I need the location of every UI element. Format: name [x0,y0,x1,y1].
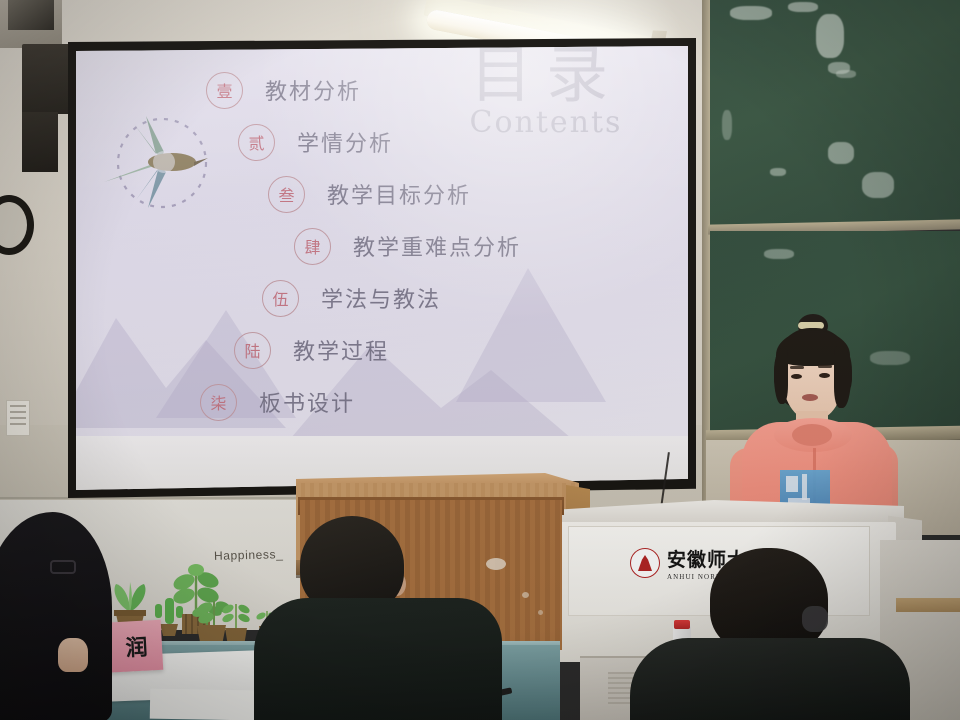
toc-item-5[interactable]: 伍 学法与教法 [262,272,606,324]
eyeglasses-icon [50,560,76,574]
hood-opening [792,424,832,446]
toc-item-3[interactable]: 叁 教学目标分析 [268,168,606,220]
toc-numeral-7: 柒 [200,384,237,421]
hand-left-person [58,638,88,672]
torso [254,598,502,720]
eye-right [819,373,830,378]
toc-label-7: 板书设计 [259,386,355,418]
eye-left [791,374,802,379]
toc-item-2[interactable]: 贰 学情分析 [238,116,606,168]
ceiling-photo [8,0,54,30]
toc-numeral-5: 伍 [262,280,299,317]
wall-seam [0,497,320,499]
toc-numeral-6: 陆 [234,332,271,369]
toc-item-4[interactable]: 肆 教学重难点分析 [294,220,606,272]
toc-label-1: 教材分析 [265,74,361,106]
eyebrow-right [818,365,832,368]
hair-side-left [774,348,788,404]
audience-person-left [0,512,112,720]
toc-item-1[interactable]: 壹 教材分析 [206,64,606,116]
toc-label-4: 教学重难点分析 [353,230,521,262]
toc-item-6[interactable]: 陆 教学过程 [234,324,606,376]
ceiling-fixture [0,0,62,48]
toc-label-2: 学情分析 [297,126,393,158]
toc-label-5: 学法与教法 [321,282,441,314]
toc-numeral-4: 肆 [294,228,331,265]
toc-numeral-2: 贰 [238,124,275,161]
presentation-slide: 目录 Contents 壹 教材分析 贰 学情分析 叁 教学目标分析 肆 [76,46,688,438]
toc-label-6: 教学过程 [293,334,389,366]
projection-screen[interactable]: 目录 Contents 壹 教材分析 贰 学情分析 叁 教学目标分析 肆 [76,46,688,490]
audience-person-right [620,548,910,720]
torso [630,638,910,720]
eyebrow-left [790,366,804,369]
blackboard-panel-top [710,0,960,228]
wall-notice [6,400,30,436]
wall-speaker [22,44,70,114]
toc-item-7[interactable]: 柒 板书设计 [200,376,606,428]
classroom-scene: 目录 Contents 壹 教材分析 贰 学情分析 叁 教学目标分析 肆 [0,0,960,720]
face-mask-icon [802,606,828,632]
wall-speaker-lower [22,112,58,172]
mouth [802,394,818,401]
hair-side-right [834,346,851,408]
audience-person-middle [258,516,498,720]
toc-label-3: 教学目标分析 [327,178,471,210]
toc-numeral-3: 叁 [268,176,305,213]
toc-list: 壹 教材分析 贰 学情分析 叁 教学目标分析 肆 教学重难点分析 伍 学法与 [186,64,606,428]
toc-numeral-1: 壹 [206,72,243,109]
